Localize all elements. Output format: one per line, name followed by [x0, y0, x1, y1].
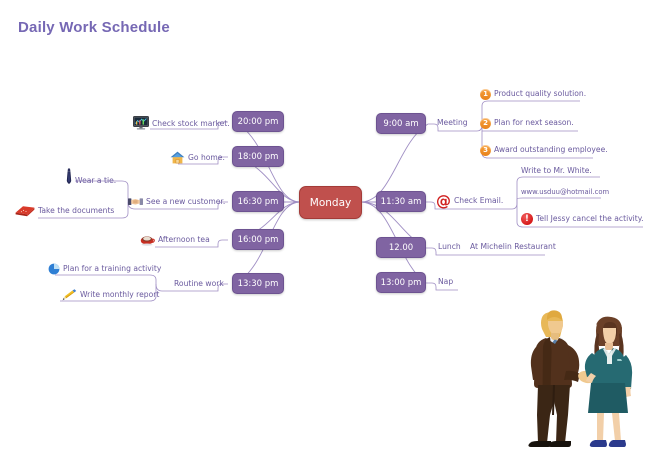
subtopic-tell-jessy-cancel[interactable]: ! Tell Jessy cancel the activity.: [521, 213, 644, 226]
businesswoman-figure: [585, 317, 632, 447]
subtopic-label: Wear a tie.: [75, 175, 116, 186]
topic-see-new-customer[interactable]: See a new customer.: [128, 196, 225, 209]
subtopic-write-mr-white[interactable]: Write to Mr. White.: [521, 166, 592, 178]
topic-nap[interactable]: Nap: [438, 277, 453, 289]
business-handshake-illustration: [500, 303, 645, 453]
subtopic-label: Product quality solution.: [494, 88, 586, 99]
time-node-1300[interactable]: 13:00 pm: [376, 272, 426, 293]
topic-label: Meeting: [437, 117, 468, 128]
subtopic-label: Award outstanding employee.: [494, 144, 608, 155]
house-icon: [170, 151, 185, 164]
subtopic-label: Take the documents: [38, 205, 114, 216]
subtopic-label: Tell Jessy cancel the activity.: [536, 213, 644, 224]
subtopic-label: www.usduu@hotmail.com: [521, 187, 609, 198]
topic-label: Nap: [438, 276, 453, 287]
number-badge-3-icon: 3: [480, 145, 491, 156]
subtopic-michelin-restaurant[interactable]: At Michelin Restaurant: [470, 242, 556, 254]
handshake-icon: [128, 196, 143, 208]
at-sign-icon: @: [436, 196, 451, 207]
time-node-2000[interactable]: 20:00 pm: [232, 111, 284, 132]
pie-chart-icon: [48, 263, 60, 275]
subtopic-email-address[interactable]: www.usduu@hotmail.com: [521, 188, 609, 200]
businessman-figure: [528, 310, 597, 447]
topic-lunch[interactable]: Lunch: [438, 242, 461, 254]
subtopic-take-the-documents[interactable]: Take the documents: [15, 204, 114, 218]
monitor-icon: [133, 116, 149, 130]
subtopic-award-outstanding-employee[interactable]: 3 Award outstanding employee.: [480, 145, 608, 157]
topic-label: Go home.: [188, 152, 225, 163]
topic-label: Check Email.: [454, 195, 503, 206]
subtopic-label: Plan for next season.: [494, 117, 574, 128]
topic-label: Check stock market.: [152, 118, 230, 129]
center-node-monday[interactable]: Monday: [299, 186, 362, 219]
subtopic-plan-training-activity[interactable]: Plan for a training activity: [48, 263, 161, 276]
pencil-icon: [62, 289, 77, 301]
subtopic-label: At Michelin Restaurant: [470, 241, 556, 252]
time-node-1330[interactable]: 13:30 pm: [232, 273, 284, 294]
subtopic-wear-a-tie[interactable]: Wear a tie.: [66, 168, 116, 188]
topic-check-email[interactable]: @ Check Email.: [436, 196, 503, 208]
subtopic-product-quality-solution[interactable]: 1 Product quality solution.: [480, 89, 586, 101]
number-badge-2-icon: 2: [480, 118, 491, 129]
coffee-cup-icon: [140, 234, 155, 246]
topic-meeting[interactable]: Meeting: [437, 118, 468, 130]
topic-routine-work[interactable]: Routine work: [174, 279, 224, 291]
number-badge-1-icon: 1: [480, 89, 491, 100]
topic-check-stock-market[interactable]: Check stock market.: [133, 116, 230, 131]
time-node-1200[interactable]: 12.00: [376, 237, 426, 258]
time-node-1600[interactable]: 16:00 pm: [232, 229, 284, 250]
topic-afternoon-tea[interactable]: Afternoon tea: [140, 234, 210, 247]
subtopic-label: Write monthly report: [80, 289, 159, 300]
time-node-1630[interactable]: 16:30 pm: [232, 191, 284, 212]
subtopic-label: Plan for a training activity: [63, 263, 161, 274]
mindmap-canvas: Daily Work Schedule: [0, 0, 650, 455]
necktie-icon: [66, 168, 72, 187]
topic-label: Afternoon tea: [158, 234, 210, 245]
topic-label: Routine work: [174, 278, 224, 289]
time-node-0900[interactable]: 9:00 am: [376, 113, 426, 134]
exclamation-icon: !: [521, 213, 533, 225]
time-node-1800[interactable]: 18:00 pm: [232, 146, 284, 167]
subtopic-plan-next-season[interactable]: 2 Plan for next season.: [480, 118, 574, 130]
topic-label: Lunch: [438, 241, 461, 252]
book-icon: [15, 204, 35, 217]
topic-label: See a new customer.: [146, 196, 225, 207]
time-node-1130[interactable]: 11:30 am: [376, 191, 426, 212]
subtopic-write-monthly-report[interactable]: Write monthly report: [62, 289, 159, 302]
topic-go-home[interactable]: Go home.: [170, 151, 225, 165]
subtopic-label: Write to Mr. White.: [521, 165, 592, 176]
